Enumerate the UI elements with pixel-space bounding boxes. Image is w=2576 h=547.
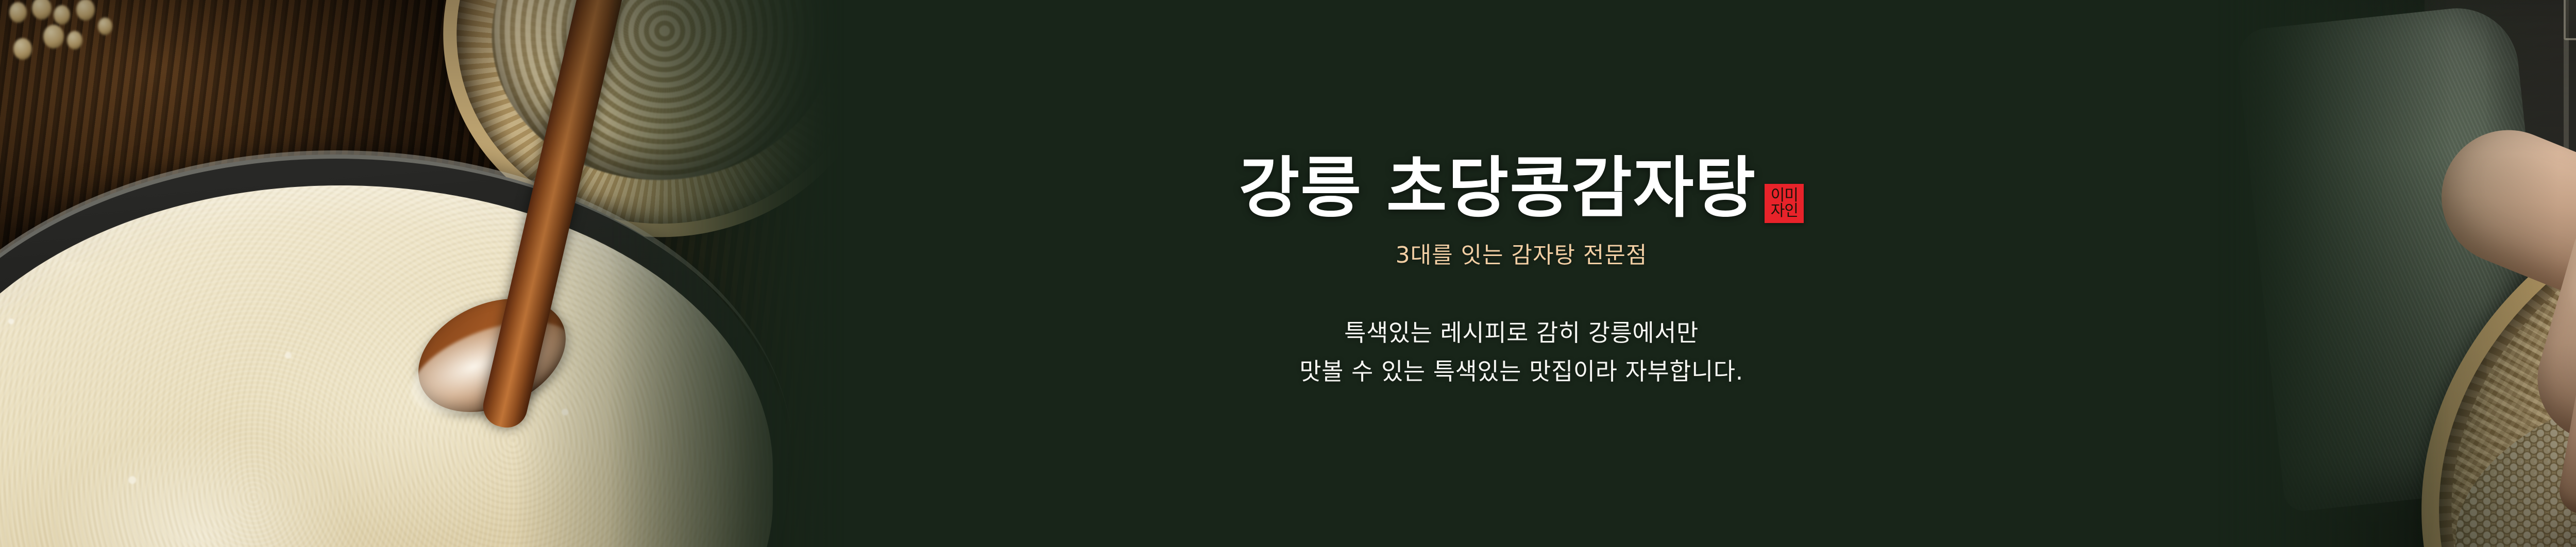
seal-line-1: 이미	[1771, 188, 1798, 204]
brand-title-row: 강릉 초당콩감자탕 이미 자인	[1239, 151, 1804, 225]
brand-description: 특색있는 레시피로 감히 강릉에서만 맛볼 수 있는 특색있는 맛집이라 자부합…	[1299, 314, 1743, 390]
banner-content: 강릉 초당콩감자탕 이미 자인 3대를 잇는 감자탕 전문점 특색있는 레시피로…	[0, 0, 2576, 547]
brand-seal-stamp: 이미 자인	[1765, 184, 1804, 223]
hero-banner: 강릉 초당콩감자탕 이미 자인 3대를 잇는 감자탕 전문점 특색있는 레시피로…	[0, 0, 2576, 547]
page-title: 강릉 초당콩감자탕	[1239, 151, 1757, 225]
description-line-1: 특색있는 레시피로 감히 강릉에서만	[1299, 314, 1743, 352]
description-line-2: 맛볼 수 있는 특색있는 맛집이라 자부합니다.	[1299, 352, 1743, 391]
seal-line-2: 자인	[1771, 203, 1798, 219]
brand-subtitle: 3대를 잇는 감자탕 전문점	[1396, 236, 1648, 269]
